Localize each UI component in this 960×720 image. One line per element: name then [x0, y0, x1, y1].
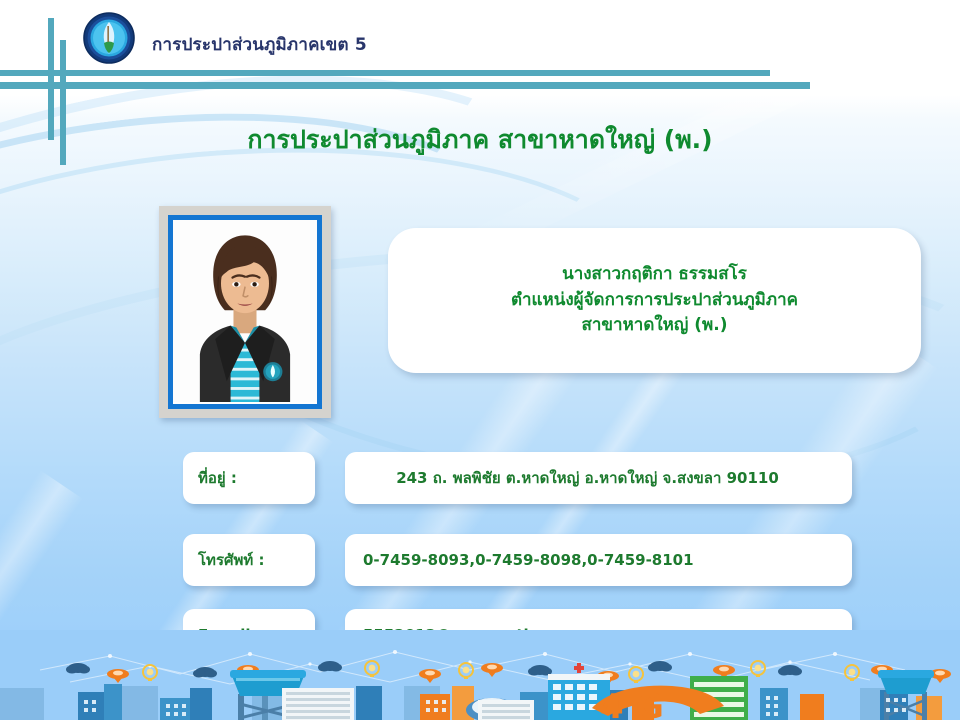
svg-text:4: 4	[600, 687, 624, 720]
manager-position-line1: ตำแหน่งผู้จัดการการประปาส่วนภูมิภาค	[511, 288, 798, 314]
header-rule-top	[0, 70, 770, 76]
manager-position-line2: สาขาหาดใหญ่ (พ.)	[582, 313, 728, 339]
svg-text:G: G	[636, 687, 664, 720]
pwa-seal-logo-icon	[83, 12, 135, 64]
manager-name-card: นางสาวกฤติกา ธรรมสโร ตำแหน่งผู้จัดการการ…	[388, 228, 921, 373]
phone-value: 0-7459-8093,0-7459-8098,0-7459-8101	[363, 551, 694, 569]
portrait-frame	[159, 206, 331, 418]
header-rule-bottom	[0, 82, 810, 89]
address-label-box: ที่อยู่ :	[183, 452, 315, 504]
slide-canvas: การประปาส่วนภูมิภาคเขต 5 การประปาส่วนภูม…	[0, 0, 960, 720]
portrait-border	[168, 215, 322, 409]
header-title: การประปาส่วนภูมิภาคเขต 5	[152, 31, 367, 58]
phone-label-box: โทรศัพท์ :	[183, 534, 315, 586]
phone-label: โทรศัพท์ :	[198, 548, 265, 572]
manager-portrait-photo	[173, 220, 317, 402]
address-value: 243 ถ. พลพิชัย ต.หาดใหญ่ อ.หาดใหญ่ จ.สงข…	[396, 466, 801, 490]
background-streak-7	[520, 0, 960, 220]
address-value-box: 243 ถ. พลพิชัย ต.หาดใหญ่ อ.หาดใหญ่ จ.สงข…	[345, 452, 852, 504]
address-label: ที่อยู่ :	[198, 466, 237, 490]
manager-name: นางสาวกฤติกา ธรรมสโร	[562, 262, 747, 288]
page-title: การประปาส่วนภูมิภาค สาขาหาดใหญ่ (พ.)	[0, 120, 960, 160]
phone-value-box: 0-7459-8093,0-7459-8098,0-7459-8101	[345, 534, 852, 586]
city-skyline-illustration: 4 G	[0, 630, 960, 720]
